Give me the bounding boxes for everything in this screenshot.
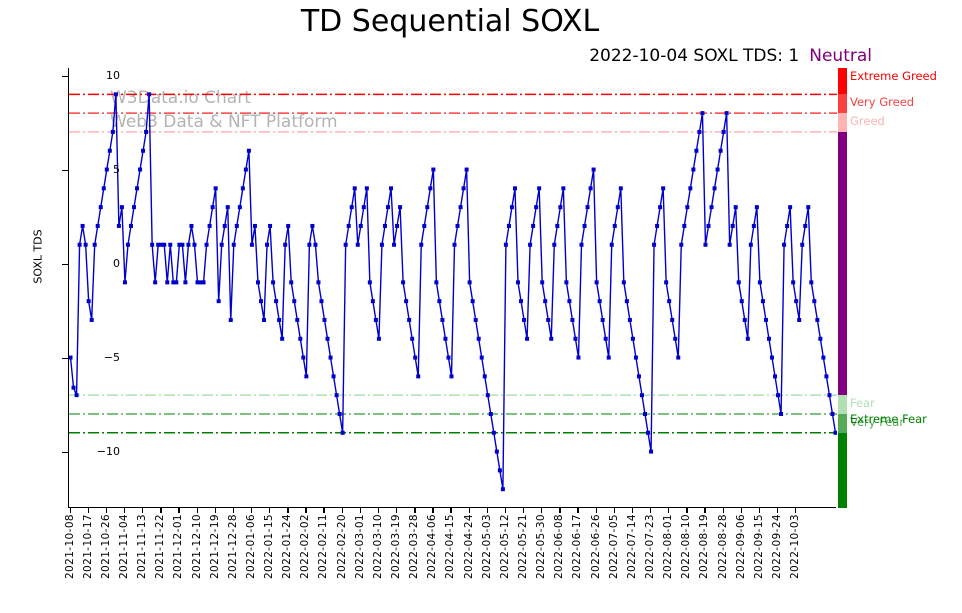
data-point bbox=[728, 243, 732, 247]
data-point bbox=[492, 431, 496, 435]
data-point bbox=[280, 337, 284, 341]
data-point bbox=[555, 224, 559, 228]
data-point bbox=[761, 299, 765, 303]
data-point bbox=[96, 224, 100, 228]
data-point bbox=[244, 168, 248, 172]
data-point bbox=[468, 280, 472, 284]
data-point bbox=[253, 224, 257, 228]
data-point bbox=[90, 318, 94, 322]
data-point bbox=[277, 318, 281, 322]
y-axis-tick-mark bbox=[62, 170, 68, 171]
data-point bbox=[111, 130, 115, 134]
x-axis-tick-label: 2022-08-10 bbox=[680, 514, 692, 579]
x-axis-tick-mark bbox=[469, 508, 470, 513]
data-point bbox=[329, 356, 333, 360]
zone-label: Greed bbox=[850, 114, 885, 128]
x-axis-tick-mark bbox=[197, 508, 198, 513]
data-point bbox=[313, 243, 317, 247]
data-point bbox=[268, 224, 272, 228]
chart-root: TD Sequential SOXL 2022-10-04 SOXL TDS: … bbox=[0, 0, 962, 613]
data-point bbox=[192, 243, 196, 247]
subtitle-reading: 2022-10-04 SOXL TDS: 1 bbox=[589, 46, 799, 66]
data-point bbox=[537, 186, 541, 190]
data-point bbox=[359, 224, 363, 228]
data-point bbox=[316, 280, 320, 284]
data-point bbox=[749, 243, 753, 247]
data-point bbox=[607, 356, 611, 360]
y-axis-tick-label: −5 bbox=[60, 351, 120, 364]
x-axis-tick-mark bbox=[577, 508, 578, 513]
data-point bbox=[292, 299, 296, 303]
data-point bbox=[643, 412, 647, 416]
x-axis-tick-label: 2022-02-02 bbox=[299, 514, 311, 579]
data-point bbox=[495, 450, 499, 454]
data-point bbox=[410, 337, 414, 341]
data-point bbox=[737, 280, 741, 284]
data-point bbox=[685, 205, 689, 209]
data-point bbox=[619, 186, 623, 190]
colorbar-segment bbox=[838, 94, 847, 113]
y-axis-tick-mark bbox=[62, 76, 68, 77]
data-point bbox=[422, 224, 426, 228]
data-point bbox=[809, 280, 813, 284]
x-axis-tick-mark bbox=[323, 508, 324, 513]
x-axis-tick-mark bbox=[178, 508, 179, 513]
data-point bbox=[353, 186, 357, 190]
data-point bbox=[688, 186, 692, 190]
y-axis-tick-mark bbox=[62, 358, 68, 359]
x-axis-tick-label: 2022-03-28 bbox=[408, 514, 420, 579]
x-axis-tick-label: 2022-04-06 bbox=[426, 514, 438, 579]
data-point bbox=[428, 186, 432, 190]
data-point bbox=[707, 224, 711, 228]
data-point bbox=[743, 318, 747, 322]
data-point bbox=[567, 299, 571, 303]
data-point bbox=[235, 224, 239, 228]
x-axis-tick-mark bbox=[88, 508, 89, 513]
data-point bbox=[667, 299, 671, 303]
colorbar-segment bbox=[838, 433, 847, 508]
colorbar-segment bbox=[838, 113, 847, 132]
x-axis-tick-label: 2021-12-01 bbox=[172, 514, 184, 579]
data-point bbox=[827, 393, 831, 397]
x-axis-tick-label: 2022-07-14 bbox=[626, 514, 638, 579]
series-canvas bbox=[69, 68, 837, 508]
data-point bbox=[561, 186, 565, 190]
x-axis-tick-mark bbox=[741, 508, 742, 513]
x-axis-tick-mark bbox=[523, 508, 524, 513]
data-point bbox=[180, 243, 184, 247]
data-point bbox=[347, 224, 351, 228]
data-point bbox=[673, 337, 677, 341]
data-point bbox=[283, 243, 287, 247]
data-point bbox=[573, 337, 577, 341]
data-point bbox=[791, 280, 795, 284]
data-point bbox=[670, 318, 674, 322]
chart-subtitle: 2022-10-04 SOXL TDS: 1Neutral bbox=[0, 46, 872, 66]
data-point bbox=[713, 186, 717, 190]
data-point bbox=[416, 374, 420, 378]
data-point bbox=[392, 243, 396, 247]
x-axis-tick-mark bbox=[142, 508, 143, 513]
x-axis-tick-mark bbox=[668, 508, 669, 513]
x-axis-tick-mark bbox=[777, 508, 778, 513]
data-point bbox=[628, 318, 632, 322]
data-point bbox=[81, 224, 85, 228]
data-point bbox=[679, 243, 683, 247]
data-point bbox=[413, 356, 417, 360]
data-point bbox=[510, 205, 514, 209]
data-point bbox=[700, 111, 704, 115]
data-point bbox=[682, 224, 686, 228]
data-point bbox=[697, 130, 701, 134]
data-point bbox=[323, 318, 327, 322]
data-point bbox=[123, 280, 127, 284]
data-point bbox=[241, 186, 245, 190]
x-axis-tick-label: 2022-03-01 bbox=[354, 514, 366, 579]
data-point bbox=[631, 337, 635, 341]
chart-title: TD Sequential SOXL bbox=[0, 4, 900, 39]
data-point bbox=[208, 224, 212, 228]
data-point bbox=[758, 280, 762, 284]
y-axis-tick-label: 5 bbox=[60, 163, 120, 176]
data-point bbox=[531, 224, 535, 228]
data-point bbox=[770, 356, 774, 360]
x-axis-tick-mark bbox=[559, 508, 560, 513]
data-point bbox=[725, 111, 729, 115]
data-point bbox=[443, 337, 447, 341]
data-point bbox=[664, 280, 668, 284]
data-point bbox=[102, 186, 106, 190]
x-axis-tick-label: 2022-01-24 bbox=[281, 514, 293, 579]
x-axis-tick-label: 2022-01-06 bbox=[245, 514, 257, 579]
data-point bbox=[558, 205, 562, 209]
zone-label: Fear bbox=[850, 396, 875, 410]
x-axis-tick-label: 2022-03-19 bbox=[390, 514, 402, 579]
data-point bbox=[289, 280, 293, 284]
x-axis-tick-label: 2022-08-19 bbox=[698, 514, 710, 579]
data-point bbox=[676, 356, 680, 360]
data-point bbox=[471, 299, 475, 303]
x-axis-tick-mark bbox=[251, 508, 252, 513]
x-axis-tick-mark bbox=[450, 508, 451, 513]
data-point bbox=[489, 412, 493, 416]
data-point bbox=[640, 393, 644, 397]
x-axis-tick-mark bbox=[650, 508, 651, 513]
x-axis-tick-label: 2021-11-22 bbox=[154, 514, 166, 579]
data-point bbox=[746, 337, 750, 341]
x-axis-tick-label: 2022-02-20 bbox=[336, 514, 348, 579]
data-point bbox=[752, 224, 756, 228]
data-point bbox=[483, 374, 487, 378]
data-point bbox=[383, 224, 387, 228]
x-axis-tick-mark bbox=[432, 508, 433, 513]
data-point bbox=[540, 280, 544, 284]
data-point bbox=[534, 205, 538, 209]
x-axis-tick-mark bbox=[160, 508, 161, 513]
data-point bbox=[740, 299, 744, 303]
data-point bbox=[456, 224, 460, 228]
data-point bbox=[407, 318, 411, 322]
data-point bbox=[147, 92, 151, 96]
data-point bbox=[141, 149, 145, 153]
x-axis-tick-label: 2021-12-10 bbox=[191, 514, 203, 579]
data-point bbox=[389, 186, 393, 190]
x-axis-tick-label: 2022-09-06 bbox=[735, 514, 747, 579]
data-point bbox=[165, 280, 169, 284]
data-point bbox=[519, 299, 523, 303]
data-point bbox=[459, 205, 463, 209]
x-axis-tick-label: 2022-09-15 bbox=[753, 514, 765, 579]
data-point bbox=[183, 280, 187, 284]
data-point bbox=[773, 374, 777, 378]
x-axis-tick-mark bbox=[360, 508, 361, 513]
x-axis-tick-label: 2022-05-30 bbox=[535, 514, 547, 579]
data-point bbox=[719, 149, 723, 153]
data-point bbox=[465, 168, 469, 172]
data-point bbox=[800, 243, 804, 247]
data-point bbox=[830, 412, 834, 416]
data-point bbox=[716, 168, 720, 172]
x-axis-tick-label: 2022-05-12 bbox=[499, 514, 511, 579]
x-axis-tick-mark bbox=[596, 508, 597, 513]
data-point bbox=[616, 205, 620, 209]
data-point bbox=[93, 243, 97, 247]
data-point bbox=[776, 393, 780, 397]
data-point bbox=[271, 280, 275, 284]
data-point bbox=[174, 280, 178, 284]
x-axis-tick-label: 2021-10-08 bbox=[64, 514, 76, 579]
data-point bbox=[440, 318, 444, 322]
data-point bbox=[782, 243, 786, 247]
data-point bbox=[691, 168, 695, 172]
data-point bbox=[570, 318, 574, 322]
x-axis-tick-mark bbox=[541, 508, 542, 513]
x-axis-tick-mark bbox=[414, 508, 415, 513]
data-point bbox=[501, 487, 505, 491]
x-axis-tick-label: 2022-10-03 bbox=[789, 514, 801, 579]
data-point bbox=[504, 243, 508, 247]
x-axis-tick-mark bbox=[106, 508, 107, 513]
data-point bbox=[637, 374, 641, 378]
x-axis-tick-mark bbox=[124, 508, 125, 513]
data-point bbox=[833, 431, 837, 435]
data-point bbox=[634, 356, 638, 360]
data-point bbox=[202, 280, 206, 284]
data-point bbox=[806, 205, 810, 209]
colorbar-segment bbox=[838, 132, 847, 395]
data-point bbox=[259, 299, 263, 303]
data-point bbox=[326, 337, 330, 341]
data-point bbox=[344, 243, 348, 247]
data-point bbox=[126, 243, 130, 247]
y-axis-tick-mark bbox=[62, 452, 68, 453]
data-point bbox=[767, 337, 771, 341]
data-point bbox=[803, 224, 807, 228]
x-axis-tick-label: 2022-03-10 bbox=[372, 514, 384, 579]
x-axis-tick-mark bbox=[795, 508, 796, 513]
x-axis-tick-mark bbox=[759, 508, 760, 513]
x-axis-tick-mark bbox=[723, 508, 724, 513]
x-axis-tick-label: 2021-11-04 bbox=[118, 514, 130, 579]
sentiment-colorbar bbox=[838, 68, 847, 508]
data-point bbox=[310, 224, 314, 228]
data-point bbox=[338, 412, 342, 416]
x-axis-tick-label: 2021-10-17 bbox=[82, 514, 94, 579]
data-point bbox=[431, 168, 435, 172]
data-point bbox=[694, 149, 698, 153]
data-point bbox=[99, 205, 103, 209]
x-axis-tick-label: 2022-06-17 bbox=[571, 514, 583, 579]
data-point bbox=[374, 318, 378, 322]
x-axis-tick-mark bbox=[632, 508, 633, 513]
data-point bbox=[398, 205, 402, 209]
data-point bbox=[755, 205, 759, 209]
zone-label: Extreme Fear bbox=[850, 412, 927, 426]
data-point bbox=[189, 224, 193, 228]
data-point bbox=[247, 149, 251, 153]
x-axis-tick-mark bbox=[269, 508, 270, 513]
data-point bbox=[480, 356, 484, 360]
data-point bbox=[87, 299, 91, 303]
data-point bbox=[362, 205, 366, 209]
data-point bbox=[812, 299, 816, 303]
data-point bbox=[238, 205, 242, 209]
x-axis-tick-mark bbox=[704, 508, 705, 513]
x-axis-tick-label: 2022-05-03 bbox=[481, 514, 493, 579]
data-point bbox=[622, 280, 626, 284]
x-axis-tick-mark bbox=[614, 508, 615, 513]
data-point bbox=[576, 356, 580, 360]
data-point bbox=[818, 337, 822, 341]
data-point bbox=[658, 205, 662, 209]
x-axis-tick-label: 2022-06-08 bbox=[553, 514, 565, 579]
data-point bbox=[595, 280, 599, 284]
colorbar-segment bbox=[838, 68, 847, 94]
x-axis-tick-mark bbox=[287, 508, 288, 513]
series-line bbox=[71, 94, 836, 489]
data-point bbox=[211, 205, 215, 209]
x-axis-tick-mark bbox=[233, 508, 234, 513]
data-point bbox=[703, 243, 707, 247]
data-point bbox=[779, 412, 783, 416]
x-axis-tick-mark bbox=[342, 508, 343, 513]
data-point bbox=[120, 205, 124, 209]
data-point bbox=[652, 243, 656, 247]
data-point bbox=[731, 224, 735, 228]
x-axis-tick-label: 2022-04-24 bbox=[463, 514, 475, 579]
data-point bbox=[138, 168, 142, 172]
data-point bbox=[301, 356, 305, 360]
data-point bbox=[543, 299, 547, 303]
x-axis-tick-label: 2022-04-15 bbox=[444, 514, 456, 579]
data-point bbox=[419, 243, 423, 247]
data-point bbox=[625, 299, 629, 303]
zone-label: Extreme Greed bbox=[850, 69, 937, 83]
data-point bbox=[815, 318, 819, 322]
data-point bbox=[598, 299, 602, 303]
y-axis-label: SOXL TDS bbox=[32, 197, 45, 317]
colorbar-segment bbox=[838, 414, 847, 433]
data-point bbox=[274, 299, 278, 303]
data-point bbox=[377, 337, 381, 341]
zone-label: Very Greed bbox=[850, 95, 914, 109]
data-point bbox=[722, 130, 726, 134]
x-axis-tick-label: 2021-10-26 bbox=[100, 514, 112, 579]
data-point bbox=[507, 224, 511, 228]
data-point bbox=[821, 356, 825, 360]
x-axis-tick-label: 2021-11-13 bbox=[136, 514, 148, 579]
data-point bbox=[604, 337, 608, 341]
data-point bbox=[365, 186, 369, 190]
data-point bbox=[610, 243, 614, 247]
data-point bbox=[564, 280, 568, 284]
data-point bbox=[824, 374, 828, 378]
y-axis-tick-mark bbox=[62, 264, 68, 265]
y-axis-tick-label: −10 bbox=[60, 445, 120, 458]
data-point bbox=[525, 337, 529, 341]
plot-area bbox=[68, 68, 836, 508]
data-point bbox=[764, 318, 768, 322]
data-point bbox=[592, 168, 596, 172]
data-point bbox=[474, 318, 478, 322]
subtitle-sentiment: Neutral bbox=[809, 46, 872, 66]
x-axis-tick-label: 2022-07-23 bbox=[644, 514, 656, 579]
data-point bbox=[335, 393, 339, 397]
data-point bbox=[117, 224, 121, 228]
x-axis-tick-label: 2021-12-28 bbox=[227, 514, 239, 579]
data-point bbox=[404, 299, 408, 303]
data-point bbox=[516, 280, 520, 284]
data-point bbox=[395, 224, 399, 228]
data-point bbox=[437, 299, 441, 303]
data-point bbox=[371, 299, 375, 303]
data-point bbox=[434, 280, 438, 284]
data-point bbox=[144, 130, 148, 134]
data-point bbox=[368, 280, 372, 284]
data-point bbox=[220, 243, 224, 247]
data-point bbox=[341, 431, 345, 435]
x-axis-tick-mark bbox=[70, 508, 71, 513]
x-axis-tick-mark bbox=[396, 508, 397, 513]
data-point bbox=[205, 243, 209, 247]
data-point bbox=[498, 468, 502, 472]
data-point bbox=[453, 243, 457, 247]
data-point bbox=[186, 243, 190, 247]
data-point bbox=[613, 224, 617, 228]
data-point bbox=[386, 205, 390, 209]
data-point bbox=[486, 393, 490, 397]
data-point bbox=[425, 205, 429, 209]
data-point bbox=[153, 280, 157, 284]
data-point bbox=[449, 374, 453, 378]
x-axis-tick-mark bbox=[487, 508, 488, 513]
data-point bbox=[583, 224, 587, 228]
x-axis-tick-label: 2022-09-24 bbox=[771, 514, 783, 579]
x-axis-tick-label: 2022-07-05 bbox=[608, 514, 620, 579]
data-point bbox=[108, 149, 112, 153]
x-axis-tick-label: 2022-08-01 bbox=[662, 514, 674, 579]
data-point bbox=[132, 205, 136, 209]
data-point bbox=[319, 299, 323, 303]
data-point bbox=[223, 224, 227, 228]
data-point bbox=[295, 318, 299, 322]
data-point bbox=[129, 224, 133, 228]
data-point bbox=[655, 224, 659, 228]
data-point bbox=[513, 186, 517, 190]
data-point bbox=[229, 318, 233, 322]
y-axis-tick-label: 0 bbox=[60, 257, 120, 270]
